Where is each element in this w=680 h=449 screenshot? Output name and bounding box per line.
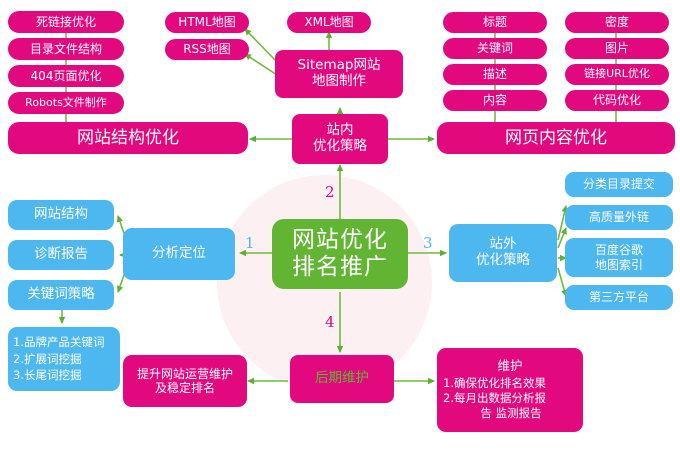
node-keyword-density[interactable]: 密度 bbox=[565, 12, 669, 33]
node-improve-operation-maintenance[interactable]: 提升网站运营维护 及稳定排名 bbox=[123, 355, 247, 407]
node-images[interactable]: 图片 bbox=[565, 38, 669, 59]
branch-number-4: 4 bbox=[325, 313, 335, 331]
node-xml-sitemap[interactable]: XML地图 bbox=[287, 12, 371, 33]
node-center-seo-ranking[interactable]: 网站优化 排名推广 bbox=[272, 219, 408, 289]
maintenance-item-1: 1.确保优化排名效果 bbox=[441, 376, 579, 391]
node-site-structure-optimization[interactable]: 网站结构优化 bbox=[8, 122, 248, 154]
node-page-content-optimization[interactable]: 网页内容优化 bbox=[437, 122, 675, 154]
branch-number-3: 3 bbox=[423, 234, 433, 252]
node-sitemap-production[interactable]: Sitemap网站 地图制作 bbox=[275, 50, 403, 98]
node-baidu-google-map-index[interactable]: 百度谷歌 地图索引 bbox=[565, 238, 673, 277]
node-third-party-platform[interactable]: 第三方平台 bbox=[565, 285, 673, 310]
node-code-optimization[interactable]: 代码优化 bbox=[565, 90, 669, 111]
node-category-directory-submission[interactable]: 分类目录提交 bbox=[565, 172, 673, 197]
node-high-quality-backlinks[interactable]: 高质量外链 bbox=[565, 205, 673, 230]
node-diagnostic-report[interactable]: 诊断报告 bbox=[8, 240, 114, 270]
node-content-keywords[interactable]: 关键词 bbox=[443, 38, 547, 59]
maintenance-item-3: 告 监测报告 bbox=[441, 406, 579, 421]
diagram-canvas: 死链接优化 目录文件结构 404页面优化 Robots文件制作 网站结构优化 H… bbox=[0, 0, 680, 449]
node-keyword-list[interactable]: 1.品牌产品关键词 2.扩展词挖掘 3.长尾词挖掘 bbox=[8, 327, 120, 391]
node-404-page-optimization[interactable]: 404页面优化 bbox=[8, 65, 124, 87]
node-maintenance-details[interactable]: 维护 1.确保优化排名效果 2.每月出数据分析报 告 监测报告 bbox=[437, 348, 583, 432]
node-directory-file-structure[interactable]: 目录文件结构 bbox=[8, 38, 124, 60]
node-onsite-strategy[interactable]: 站内 优化策略 bbox=[292, 114, 388, 164]
node-site-structure[interactable]: 网站结构 bbox=[8, 200, 114, 230]
node-robots-file[interactable]: Robots文件制作 bbox=[8, 92, 124, 114]
branch-number-2: 2 bbox=[325, 183, 335, 201]
node-content-title[interactable]: 标题 bbox=[443, 12, 547, 33]
branch-number-1: 1 bbox=[245, 234, 255, 252]
node-rss-sitemap[interactable]: RSS地图 bbox=[165, 39, 249, 60]
node-html-sitemap[interactable]: HTML地图 bbox=[165, 12, 249, 33]
maintenance-item-2: 2.每月出数据分析报 bbox=[441, 391, 579, 406]
node-keyword-strategy[interactable]: 关键词策略 bbox=[8, 280, 114, 310]
node-link-url-optimization[interactable]: 链接URL优化 bbox=[565, 64, 669, 85]
node-analysis-positioning[interactable]: 分析定位 bbox=[123, 228, 235, 280]
node-content-description[interactable]: 描述 bbox=[443, 64, 547, 85]
node-content-body[interactable]: 内容 bbox=[443, 90, 547, 111]
node-offsite-strategy[interactable]: 站外 优化策略 bbox=[449, 224, 557, 282]
maintenance-title: 维护 bbox=[441, 358, 579, 375]
node-dead-link-optimization[interactable]: 死链接优化 bbox=[8, 11, 124, 33]
node-late-stage-maintenance[interactable]: 后期维护 bbox=[290, 355, 394, 403]
